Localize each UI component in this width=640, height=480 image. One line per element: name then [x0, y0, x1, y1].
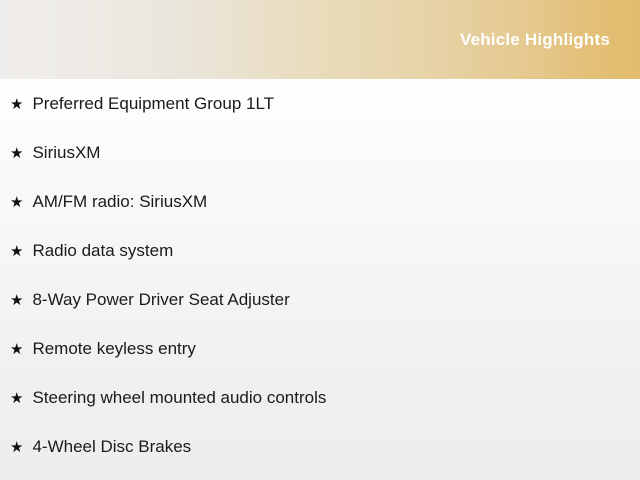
- list-item: ★ AM/FM radio: SiriusXM: [0, 177, 640, 226]
- star-icon: ★: [10, 423, 28, 472]
- highlight-label: 4-Wheel Disc Brakes: [32, 422, 191, 471]
- list-item: ★ 8-Way Power Driver Seat Adjuster: [0, 275, 640, 324]
- page-title: Vehicle Highlights: [460, 30, 610, 50]
- highlight-label: AM/FM radio: SiriusXM: [32, 177, 207, 226]
- list-item: ★ Steering wheel mounted audio controls: [0, 373, 640, 422]
- vehicle-highlights-list: ★ Preferred Equipment Group 1LT ★ Sirius…: [0, 79, 640, 471]
- list-item: ★ Preferred Equipment Group 1LT: [0, 79, 640, 128]
- highlight-label: 8-Way Power Driver Seat Adjuster: [32, 275, 289, 324]
- header-banner: Vehicle Highlights: [0, 0, 640, 79]
- star-icon: ★: [10, 325, 28, 374]
- highlight-label: SiriusXM: [32, 128, 100, 177]
- highlight-label: Remote keyless entry: [32, 324, 195, 373]
- highlight-label: Preferred Equipment Group 1LT: [32, 79, 274, 128]
- star-icon: ★: [10, 178, 28, 227]
- star-icon: ★: [10, 227, 28, 276]
- highlight-label: Steering wheel mounted audio controls: [32, 373, 326, 422]
- list-item: ★ Remote keyless entry: [0, 324, 640, 373]
- vehicle-highlights-page: Vehicle Highlights ★ Preferred Equipment…: [0, 0, 640, 480]
- list-item: ★ SiriusXM: [0, 128, 640, 177]
- list-item: ★ Radio data system: [0, 226, 640, 275]
- star-icon: ★: [10, 374, 28, 423]
- star-icon: ★: [10, 129, 28, 178]
- list-item: ★ 4-Wheel Disc Brakes: [0, 422, 640, 471]
- highlight-label: Radio data system: [32, 226, 173, 275]
- star-icon: ★: [10, 80, 28, 129]
- star-icon: ★: [10, 276, 28, 325]
